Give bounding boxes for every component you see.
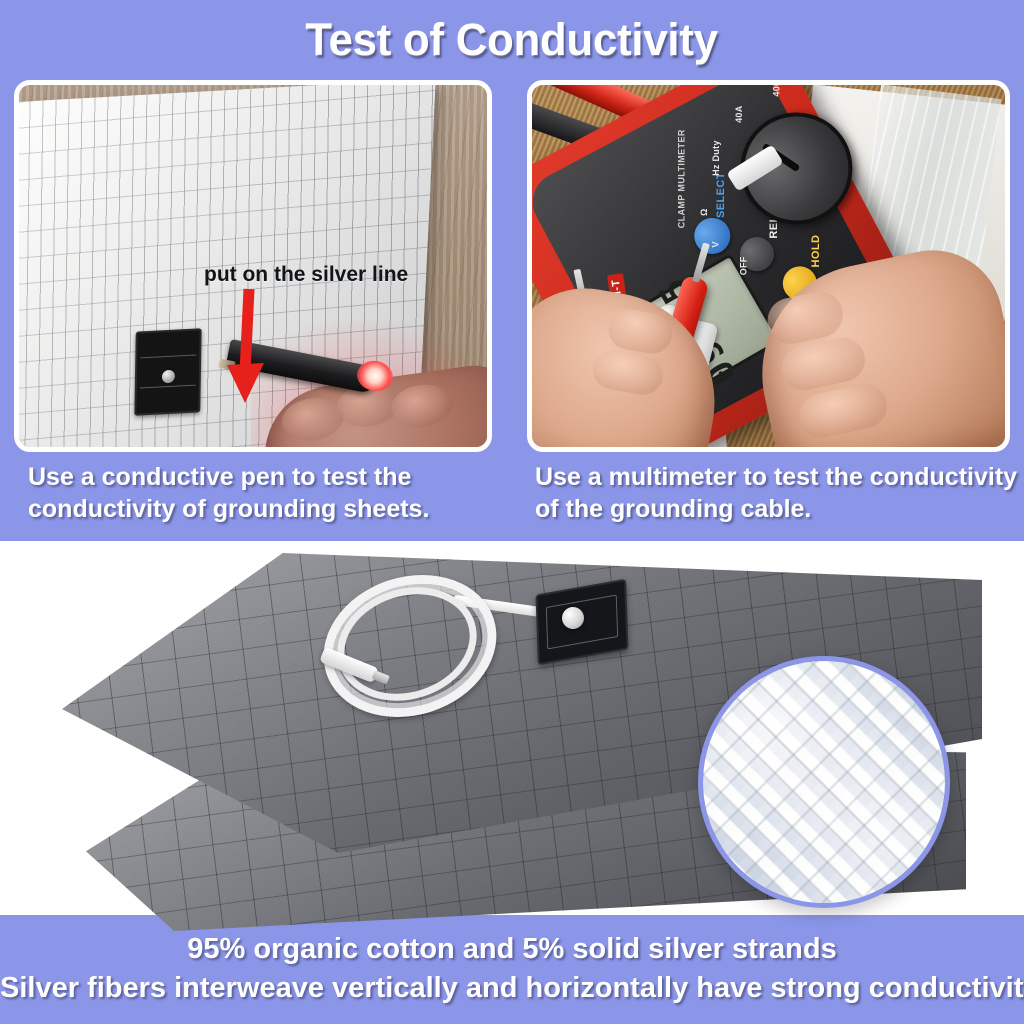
fiber-magnifier-inset	[698, 656, 950, 908]
snap-button-icon	[161, 370, 174, 384]
dial-label-v: V	[711, 241, 721, 247]
hold-button-label: HOLD	[810, 235, 822, 268]
photo-multimeter-test: 09.75 UNI-T UT203 SELECT REL Δ HOLD CLAM…	[527, 80, 1010, 452]
select-button[interactable]	[688, 212, 737, 261]
page-title: Test of Conductivity	[306, 14, 718, 66]
device-type-label: CLAMP MULTIMETER	[676, 129, 686, 228]
photo-left-content: put on the silver line	[19, 85, 487, 447]
finger	[590, 348, 666, 398]
dial-label-ohm: Ω	[699, 208, 709, 216]
footer-line-1: 95% organic cotton and 5% solid silver s…	[0, 930, 1024, 969]
dial-label-40a: 40A	[734, 105, 744, 122]
annotation-label: put on the silver line	[204, 263, 408, 287]
footer-line-2: Silver fibers interweave vertically and …	[0, 969, 1024, 1008]
finger	[796, 380, 891, 441]
caption-multimeter: Use a multimeter to test the conductivit…	[535, 461, 1020, 525]
photo-right-content: 09.75 UNI-T UT203 SELECT REL Δ HOLD CLAM…	[532, 85, 1005, 447]
red-arrow-icon	[215, 287, 275, 405]
dial-label-400a: 400A	[771, 85, 781, 97]
snap-patch	[134, 328, 201, 416]
silver-fiber-weave-closeup	[698, 656, 950, 908]
knuckle	[388, 381, 455, 431]
patch-seam-top	[140, 354, 196, 358]
footer-text-block: 95% organic cotton and 5% solid silver s…	[0, 930, 1024, 1007]
patch-seam-bottom	[140, 385, 196, 389]
dial-label-hz-duty: Hz Duty	[711, 140, 721, 176]
finger	[605, 306, 675, 357]
select-button-label: SELECT	[715, 172, 727, 218]
product-infographic: Test of Conductivity put on the silver l…	[0, 0, 1024, 1024]
photo-conductive-pen-test: put on the silver line	[14, 80, 492, 452]
dial-label-off: OFF	[738, 256, 748, 275]
header-bar: Test of Conductivity	[0, 0, 1024, 80]
caption-conductive-pen: Use a conductive pen to test the conduct…	[28, 461, 498, 525]
knuckle	[279, 394, 346, 444]
